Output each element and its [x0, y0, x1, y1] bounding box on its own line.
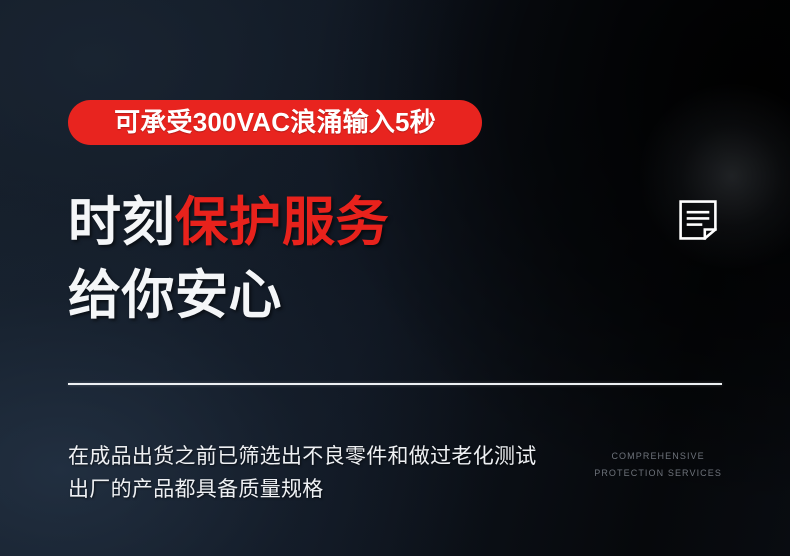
headline-line1-white: 时刻: [68, 193, 175, 252]
surge-rating-badge-label: 可承受300VAC浪涌输入5秒: [114, 109, 436, 135]
description-line1: 在成品出货之前已筛选出不良零件和做过老化测试: [68, 445, 537, 468]
caption-line1: COMPREHENSIVE: [611, 451, 704, 461]
description-text: 在成品出货之前已筛选出不良零件和做过老化测试 出厂的产品都具备质量规格: [68, 440, 537, 506]
section-divider: [68, 383, 722, 385]
headline-line2: 给你安心: [68, 259, 389, 332]
document-note-icon: [678, 199, 718, 241]
headline-line1-red: 保护服务: [175, 193, 389, 252]
caption-line2: PROTECTION SERVICES: [594, 465, 722, 482]
surge-rating-badge: 可承受300VAC浪涌输入5秒: [68, 100, 482, 145]
document-outline-path: [681, 202, 716, 239]
description-line2: 出厂的产品都具备质量规格: [68, 473, 537, 506]
page-title: 时刻保护服务 给你安心: [68, 186, 389, 332]
protection-services-banner: 可承受300VAC浪涌输入5秒 时刻保护服务 给你安心 在成品出货之前已筛选出不…: [0, 0, 790, 556]
english-caption: COMPREHENSIVE PROTECTION SERVICES: [594, 448, 722, 482]
